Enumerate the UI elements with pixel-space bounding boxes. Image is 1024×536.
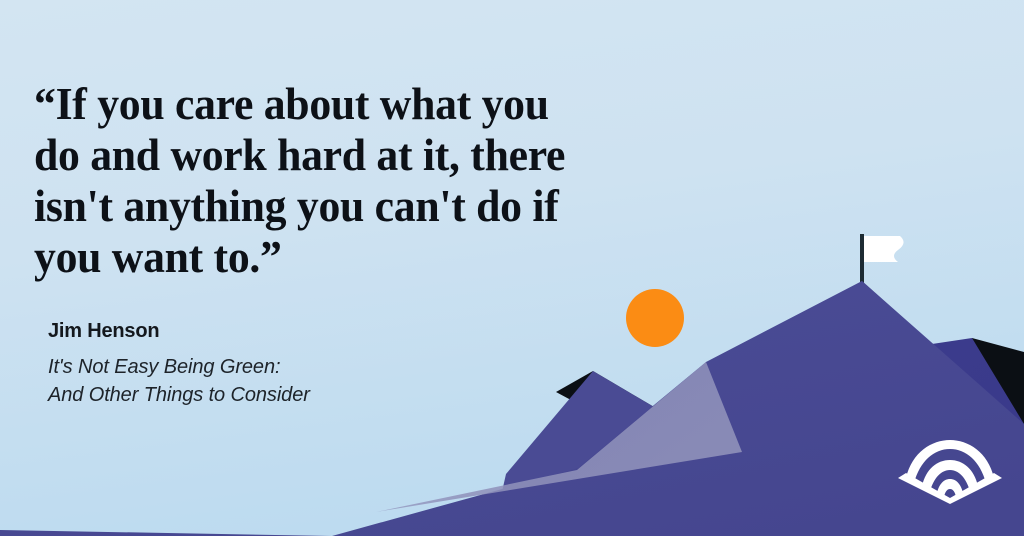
flag-pole [860,234,864,286]
book-title: It's Not Easy Being Green: And Other Thi… [48,353,310,409]
quote-card: “If you care about what you do and work … [0,0,1024,536]
audible-logo [898,434,1002,504]
author-name: Jim Henson [48,318,310,344]
quote-block: “If you care about what you do and work … [34,78,634,282]
attribution-block: Jim Henson It's Not Easy Being Green: An… [48,318,310,409]
quote-text: “If you care about what you do and work … [34,78,604,282]
sun-icon [626,289,684,347]
